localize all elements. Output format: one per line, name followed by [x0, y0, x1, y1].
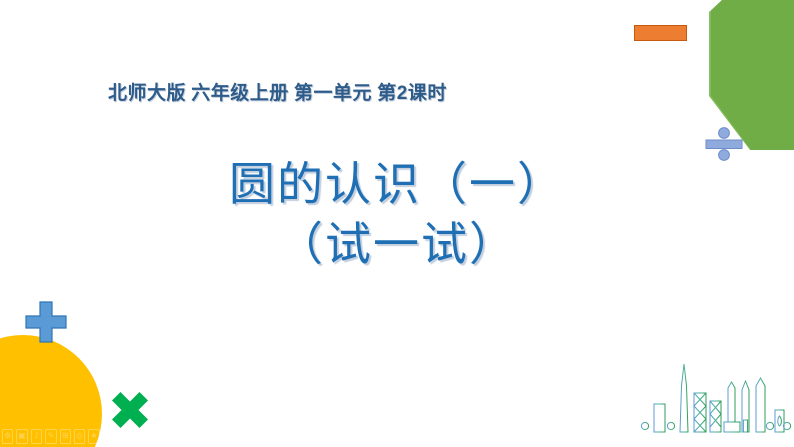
- watermark-glyph-1: ⚙: [2, 429, 13, 444]
- watermark-glyph-5: ⊞: [60, 429, 71, 444]
- minus-bar-icon: [634, 25, 687, 41]
- watermark-glyph-4: ✎: [45, 429, 56, 444]
- subject-breadcrumb: 北师大版 六年级上册 第一单元 第2课时: [108, 78, 447, 105]
- subject-prefix: 北师大版 六年级上册 第一单元 第: [108, 83, 397, 104]
- watermark-glyph-3: ♪: [31, 429, 42, 444]
- page-title-line-2: （试一试）: [0, 215, 794, 275]
- subject-suffix: 课时: [408, 83, 447, 104]
- watermark-glyph-7: ★: [88, 429, 99, 444]
- page-title: 圆的认识（一） （试一试）: [0, 155, 794, 275]
- lesson-number: 2: [397, 83, 408, 104]
- watermark-icon-strip: ⚙ ▣ ♪ ✎ ⊞ ◎ ★ ○: [2, 428, 114, 445]
- city-skyline-icon: [636, 360, 792, 440]
- watermark-glyph-6: ◎: [74, 429, 85, 444]
- watermark-glyph-2: ▣: [16, 429, 27, 444]
- presentation-slide: ⚙ ▣ ♪ ✎ ⊞ ◎ ★ ○: [0, 0, 794, 447]
- page-title-line-1: 圆的认识（一）: [0, 155, 794, 215]
- multiply-sign-icon: [108, 388, 152, 432]
- watermark-glyph-8: ○: [103, 429, 114, 444]
- plus-sign-icon: [24, 300, 68, 344]
